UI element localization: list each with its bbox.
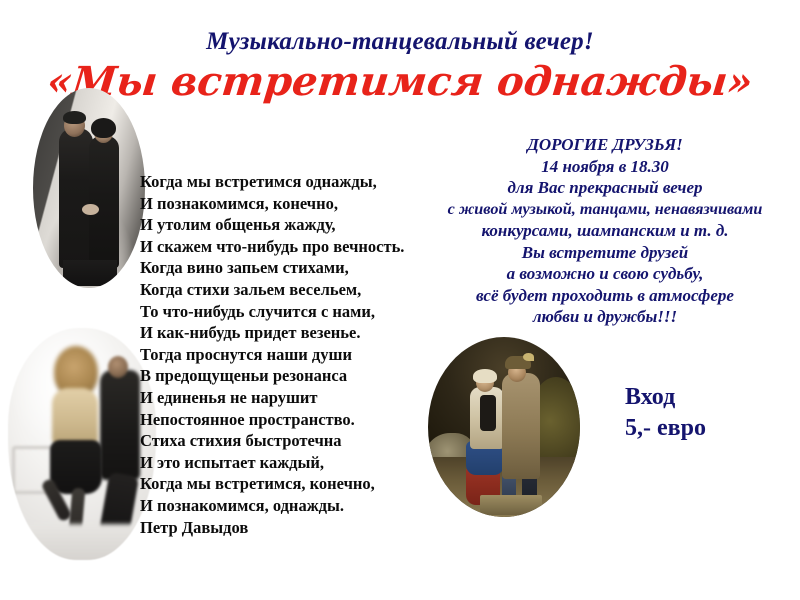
- poem-line: Непостоянное пространство.: [140, 409, 470, 431]
- poem-line: Стиха стихия быстротечна: [140, 430, 470, 452]
- poem-line: Когда мы встретимся однажды,: [140, 171, 470, 193]
- entrance-price: 5,- евро: [625, 413, 706, 444]
- poem-line: И утолим общенья жажду,: [140, 214, 470, 236]
- dancers-floor: [8, 524, 156, 560]
- poster-canvas: Музыкально-танцевальный вечер! «Мы встре…: [0, 0, 800, 600]
- photo-blurred-dancers: [8, 328, 156, 560]
- poem-line: Тогда проснутся наши души: [140, 344, 470, 366]
- poem-line: И это испытает каждый,: [140, 452, 470, 474]
- dancers-man-body: [100, 370, 140, 480]
- poster-title-script: «Мы встретимся однажды»: [0, 58, 800, 105]
- poster-title-primary: Музыкально-танцевальный вечер!: [0, 28, 800, 56]
- photo-couple-embracing: [33, 88, 145, 288]
- painting-stone-step: [480, 495, 542, 515]
- poem-line: И познакомимся, однажды.: [140, 495, 470, 517]
- painting-man-body: [502, 373, 540, 479]
- poem-block: Когда мы встретимся однажды, И познакоми…: [140, 171, 470, 538]
- poem-line: Когда мы встретимся, конечно,: [140, 473, 470, 495]
- poem-line: И единенья не нарушит: [140, 387, 470, 409]
- painting-man-hat-feather: [523, 353, 534, 361]
- poem-line: Когда стихи зальем весельем,: [140, 279, 470, 301]
- couple-man-body: [59, 128, 93, 268]
- dancers-man-head: [108, 356, 128, 378]
- couple-woman-hair: [91, 118, 116, 138]
- poem-line: И познакомимся, конечно,: [140, 193, 470, 215]
- poem-line: Когда вино запьем стихами,: [140, 257, 470, 279]
- dancers-woman-skirt: [50, 440, 102, 494]
- painting-woman-vest: [480, 395, 496, 431]
- couple-man-hair: [63, 111, 86, 124]
- couple-legs: [63, 260, 117, 286]
- poem-line: И скажем что-нибудь про вечность.: [140, 236, 470, 258]
- poem-line: То что-нибудь случится с нами,: [140, 301, 470, 323]
- entrance-label: Вход: [625, 382, 706, 413]
- painting-woman-headscarf: [473, 369, 497, 383]
- couple-joined-hands: [82, 204, 99, 215]
- announcement-heading: ДОРОГИЕ ДРУЗЬЯ!: [410, 134, 800, 156]
- poem-line: И как-нибудь придет везенье.: [140, 322, 470, 344]
- poem-author: Петр Давыдов: [140, 517, 470, 539]
- couple-woman-body: [89, 136, 119, 268]
- entrance-fee-block: Вход 5,- евро: [625, 382, 706, 444]
- dancers-woman-top: [52, 388, 98, 446]
- poem-line: В предощущеньи резонанса: [140, 365, 470, 387]
